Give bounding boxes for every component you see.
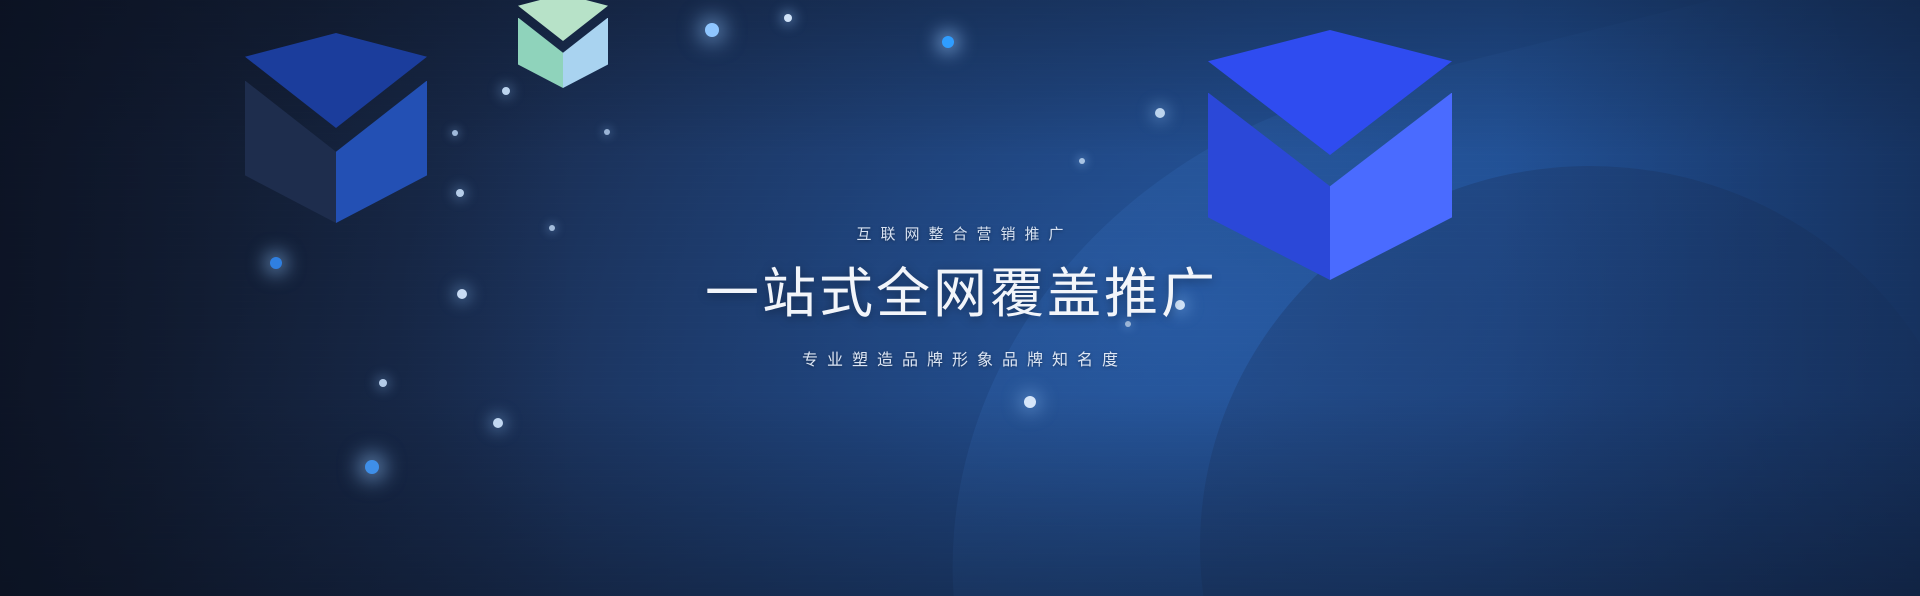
particle-dot — [457, 289, 467, 299]
particle-dot — [1125, 321, 1131, 327]
particle-dot — [270, 257, 282, 269]
particle-dot — [365, 460, 379, 474]
particle-dot — [705, 23, 719, 37]
particle-dot — [1175, 300, 1185, 310]
particle-dot — [1155, 108, 1165, 118]
cube-center-mint-icon — [518, 0, 608, 88]
particle-dot — [452, 130, 458, 136]
cube-right-blue-icon — [1208, 30, 1452, 280]
particle-dot — [379, 379, 387, 387]
particle-dot — [1079, 158, 1085, 164]
particle-dot — [493, 418, 503, 428]
particle-dot — [784, 14, 792, 22]
hero-banner: 互联网整合营销推广 一站式全网覆盖推广 专业塑造品牌形象品牌知名度 — [0, 0, 1920, 596]
cube-left-navy-icon — [245, 33, 427, 223]
particle-dot — [502, 87, 510, 95]
particle-dot — [549, 225, 555, 231]
particle-dot — [1024, 396, 1036, 408]
particle-dot — [942, 36, 954, 48]
particle-dot — [456, 189, 464, 197]
particle-dot — [604, 129, 610, 135]
